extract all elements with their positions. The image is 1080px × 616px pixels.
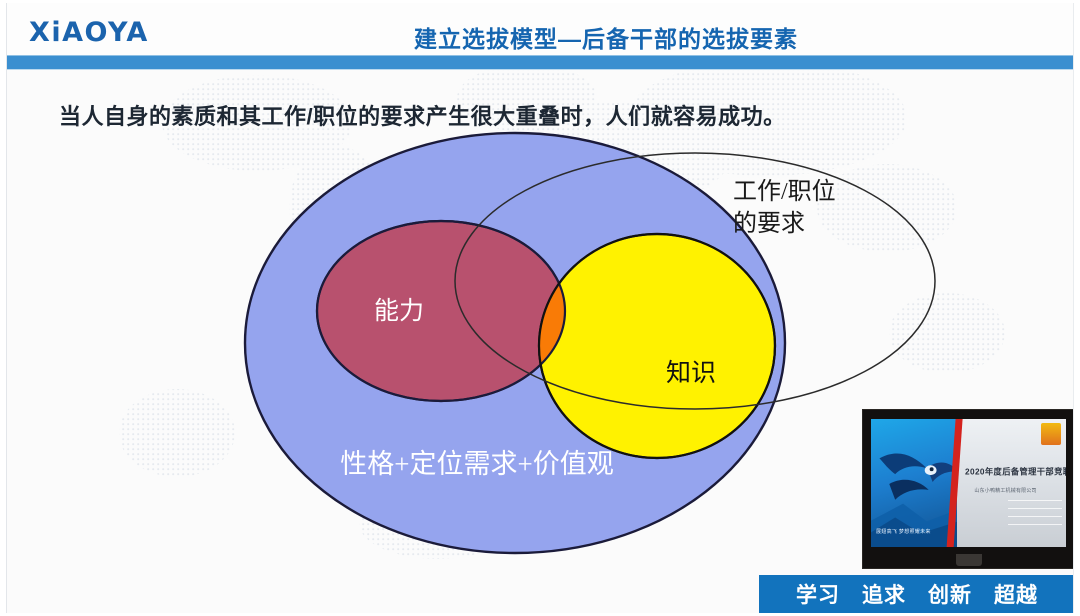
photo-screen: 展翅高飞 梦想照耀未来 2020年度后备管理干部竞聘 山东小鸭精工机械有限公司 (871, 419, 1066, 547)
photo-corner-caption: 展翅高飞 梦想照耀未来 (876, 528, 931, 535)
slide-canvas: XiAOYA 建立选拔模型—后备干部的选拔要素 当人自身的素质和其工作/职位的要… (6, 3, 1074, 613)
footer-slogan-0: 学习 (796, 579, 840, 609)
venn-label-foundation: 性格+定位需求+价值观 (340, 449, 613, 479)
photo-screen-left-panel: 展翅高飞 梦想照耀未来 (871, 419, 957, 547)
photo-headline-text: 2020年度后备管理干部竞聘 (965, 466, 1066, 478)
slide-root: XiAOYA 建立选拔模型—后备干部的选拔要素 当人自身的素质和其工作/职位的要… (0, 0, 1080, 616)
monitor-stand (956, 554, 982, 566)
presentation-photo-thumbnail: 展翅高飞 梦想照耀未来 2020年度后备管理干部竞聘 山东小鸭精工机械有限公司 (862, 409, 1074, 569)
venn-label-job-requirements-line2: 的要求 (733, 210, 805, 237)
footer-slogan-3: 超越 (994, 579, 1038, 609)
footer-slogan-bar: 学习 追求 创新 超越 (759, 575, 1074, 613)
page-title-text: 建立选拔模型—后备干部的选拔要素 (284, 26, 798, 52)
subtitle-text: 当人自身的素质和其工作/职位的要求产生很大重叠时，人们就容易成功。 (59, 99, 786, 131)
photo-screen-right-panel (957, 419, 1066, 547)
footer-slogan-1: 追求 (862, 579, 906, 609)
page-title: 建立选拔模型—后备干部的选拔要素 (7, 20, 1074, 54)
slide-header: XiAOYA 建立选拔模型—后备干部的选拔要素 (7, 3, 1073, 55)
venn-label-ability: 能力 (374, 297, 424, 325)
venn-circle-knowledge (539, 234, 775, 458)
photo-screen-lines (1008, 500, 1062, 540)
header-accent-bar (7, 55, 1074, 70)
venn-label-knowledge: 知识 (666, 359, 716, 387)
photo-company-text: 山东小鸭精工机械有限公司 (974, 487, 1036, 494)
venn-label-job-requirements-line1: 工作/职位 (733, 178, 836, 205)
footer-slogan-2: 创新 (928, 579, 972, 609)
company-badge-icon (1041, 423, 1061, 445)
